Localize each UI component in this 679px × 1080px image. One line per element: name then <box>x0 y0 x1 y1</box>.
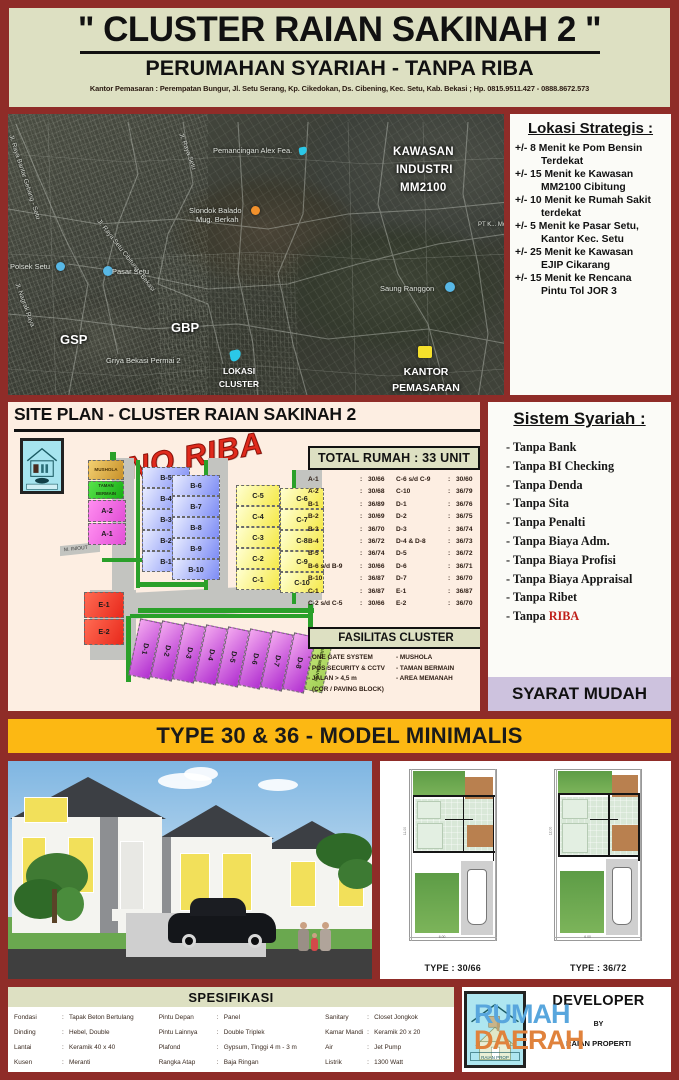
list-item: - TAMAN BERMAIN <box>396 664 482 675</box>
spesifikasi-col-1: Fondasi:Tapak Beton Bertulang Dinding:He… <box>8 1010 159 1070</box>
table-row: Pintu Depan:Panel <box>159 1010 325 1025</box>
lokasi-item-5-line2: Pintu Tol JOR 3 <box>515 285 666 298</box>
site-plan-lot-b8[interactable]: B-8 <box>172 517 220 538</box>
table-row: D-5:36/72 <box>396 548 482 560</box>
spec-key: Kusen <box>14 1055 62 1070</box>
raian-properti-badge-icon <box>20 438 64 494</box>
location-map[interactable]: KAWASAN INDUSTRI MM2100 GSP GBP LOKASI C… <box>6 112 506 397</box>
list-item: - Tanpa Penalti <box>488 513 671 532</box>
spesifikasi-col-2: Pintu Depan:Panel Pintu Lainnya:Double T… <box>159 1010 325 1070</box>
table-row: D-2:36/75 <box>396 511 482 523</box>
unit-code: D-7 <box>396 573 448 585</box>
total-rumah-box: TOTAL RUMAH : 33 UNIT <box>308 446 480 470</box>
map-label-gbp: GBP <box>171 320 199 335</box>
map-poi-slondok: Slondok Balado <box>189 206 242 215</box>
list-item: - Tanpa Denda <box>488 476 671 495</box>
developer-by-label: BY <box>526 1021 671 1028</box>
map-poi-saung-ranggon: Saung Ranggon <box>380 284 434 293</box>
sistem-syariah-title: Sistem Syariah : <box>488 402 671 438</box>
floor-plan-30: 6.00 11.00 TYPE : 30/66 <box>380 761 526 979</box>
spesifikasi-title-bar: SPESIFIKASI <box>8 987 454 1007</box>
unit-code: B-4 <box>308 536 360 548</box>
page-title: " CLUSTER RAIAN SAKINAH 2 " <box>78 10 601 50</box>
unit-code: B-5 <box>308 548 360 560</box>
unit-code: D-3 <box>396 524 448 536</box>
spec-key: Plafond <box>159 1040 217 1055</box>
site-plan-lot-e2[interactable]: E-2 <box>84 619 124 645</box>
render-car <box>168 913 276 943</box>
site-plan-lot-b10[interactable]: B-10 <box>172 559 220 580</box>
site-plan-lot-mushola[interactable]: MUSHOLA <box>88 460 124 480</box>
table-row: A-1:30/66 <box>308 474 396 486</box>
list-item: - Tanpa Ribet <box>488 588 671 607</box>
lokasi-item-3-line1: +/- 5 Menit ke Pasar Setu, <box>515 220 666 233</box>
spec-value: Closet Jongkok <box>374 1010 418 1025</box>
map-pin-saung-ranggon[interactable] <box>445 282 455 292</box>
fasilitas-col-left: - ONE GATE SYSTEM - POS SECURITY & CCTV … <box>308 653 396 695</box>
site-plan-lot-a2[interactable]: A-2 <box>88 500 126 522</box>
unit-code: D-6 <box>396 561 448 573</box>
list-item-tanpa-riba: - Tanpa RIBA <box>488 607 671 626</box>
unit-code: B-1 <box>308 499 360 511</box>
lokasi-item-1-line1: +/- 15 Menit ke Kawasan <box>515 168 666 181</box>
list-item: - POS SECURITY & CCTV <box>308 664 396 675</box>
map-label-gsp: GSP <box>60 332 87 347</box>
spesifikasi-panel: SPESIFIKASI Fondasi:Tapak Beton Bertulan… <box>6 985 456 1074</box>
fasilitas-lists: - ONE GATE SYSTEM - POS SECURITY & CCTV … <box>308 653 482 695</box>
unit-code: B-2 <box>308 511 360 523</box>
site-plan-lot-c1[interactable]: C-1 <box>236 569 280 590</box>
table-row: B-3:36/70 <box>308 524 396 536</box>
table-row: Lantai:Keramik 40 x 40 <box>14 1040 159 1055</box>
site-plan-lot-c4[interactable]: C-4 <box>236 506 280 527</box>
map-label-industri: INDUSTRI <box>396 164 453 176</box>
map-label-lokasi: LOKASI <box>208 366 270 376</box>
unit-type: 36/70 <box>456 573 473 585</box>
unit-code: A-1 <box>308 474 360 486</box>
map-label-kawasan: KAWASAN <box>393 146 454 158</box>
spec-key: Dinding <box>14 1025 62 1040</box>
table-row: Kamar Mandi:Keramik 20 x 20 <box>325 1025 454 1040</box>
spec-value: Double Triplek <box>224 1025 265 1040</box>
lokasi-item-1-line2: MM2100 Cibitung <box>515 181 666 194</box>
list-item: - Tanpa BI Checking <box>488 457 671 476</box>
spesifikasi-title: SPESIFIKASI <box>188 990 273 1005</box>
map-satellite-image: KAWASAN INDUSTRI MM2100 GSP GBP LOKASI C… <box>8 114 504 395</box>
lokasi-item: +/- 8 Menit ke Pom Bensin Terdekat <box>515 142 666 168</box>
title-underline <box>80 51 600 54</box>
spec-value: Tapak Beton Bertulang <box>69 1010 134 1025</box>
table-row: Air:Jet Pump <box>325 1040 454 1055</box>
spesifikasi-col-3: Sanitary:Closet Jongkok Kamar Mandi:Kera… <box>325 1010 454 1070</box>
spec-key: Listrik <box>325 1055 367 1070</box>
table-row: B-10:36/87 <box>308 573 396 585</box>
table-row: B-6 s/d B-9:30/66 <box>308 561 396 573</box>
unit-type: 36/74 <box>456 524 473 536</box>
site-plan-title: SITE PLAN - CLUSTER RAIAN SAKINAH 2 <box>8 402 480 425</box>
list-item: - Tanpa Bank <box>488 438 671 457</box>
unit-type: 36/72 <box>456 548 473 560</box>
spec-value: Gypsum, Tinggi 4 m - 3 m <box>224 1040 297 1055</box>
site-plan-lot-b7[interactable]: B-7 <box>172 496 220 517</box>
unit-code: A-2 <box>308 486 360 498</box>
unit-type: 36/87 <box>368 586 385 598</box>
developer-title: DEVELOPER <box>526 987 671 1009</box>
lokasi-item-2-line1: +/- 10 Menit ke Rumah Sakit <box>515 194 666 207</box>
brochure-page: " CLUSTER RAIAN SAKINAH 2 " PERUMAHAN SY… <box>0 0 679 1080</box>
map-pin-kantor-pemasaran[interactable] <box>418 346 432 358</box>
site-plan-lot-b9[interactable]: B-9 <box>172 538 220 559</box>
table-row: Listrik:1300 Watt <box>325 1055 454 1070</box>
unit-type: 30/60 <box>456 474 473 486</box>
syarat-mudah-label: SYARAT MUDAH <box>512 684 647 704</box>
floor-plan-30-drawing: 6.00 11.00 <box>409 769 497 941</box>
table-row: Plafond:Gypsum, Tinggi 4 m - 3 m <box>159 1040 325 1055</box>
table-row: D-1:36/76 <box>396 499 482 511</box>
table-row: E-1:36/87 <box>396 586 482 598</box>
table-row: D-7:36/70 <box>396 573 482 585</box>
table-row: Rangka Atap:Baja Ringan <box>159 1055 325 1070</box>
table-row: Dinding:Hebel, Double <box>14 1025 159 1040</box>
unit-type: 30/66 <box>368 561 385 573</box>
map-poi-pemancingan: Pemancingan Alex Fea. <box>213 146 292 155</box>
unit-type: 36/74 <box>368 548 385 560</box>
unit-type: 36/75 <box>456 511 473 523</box>
tanpa-prefix: - Tanpa <box>506 609 549 623</box>
table-row: Sanitary:Closet Jongkok <box>325 1010 454 1025</box>
sistem-syariah-panel: Sistem Syariah : - Tanpa Bank - Tanpa BI… <box>486 400 673 713</box>
unit-code: C-1 <box>308 586 360 598</box>
render-person-adult-2 <box>320 922 331 951</box>
map-poi-polsek: Polsek Setu <box>10 262 50 271</box>
floor-plan-30-caption: TYPE : 30/66 <box>380 963 526 973</box>
fasilitas-cluster-box: FASILITAS CLUSTER <box>308 627 482 649</box>
lokasi-item: +/- 25 Menit ke Kawasan EJIP Cikarang <box>515 246 666 272</box>
table-row: E-2:36/70 <box>396 598 482 610</box>
lokasi-strategis-panel: Lokasi Strategis : +/- 8 Menit ke Pom Be… <box>508 112 673 397</box>
table-row: C-6 s/d C-9:30/60 <box>396 474 482 486</box>
site-plan-lot-taman[interactable]: TAMAN BERMAIN <box>88 481 124 499</box>
site-plan-lot-a1[interactable]: A-1 <box>88 523 126 545</box>
list-item: (COR / PAVING BLOCK) <box>308 685 396 696</box>
table-row: B-5:36/74 <box>308 548 396 560</box>
lokasi-item: +/- 10 Menit ke Rumah Sakit terdekat <box>515 194 666 220</box>
spec-key: Air <box>325 1040 367 1055</box>
list-item: - Tanpa Biaya Appraisal <box>488 570 671 589</box>
svg-text:RAIAN PROP: RAIAN PROP <box>481 1055 509 1060</box>
list-item: - AREA MEMANAH <box>396 674 482 685</box>
unit-code: E-2 <box>396 598 448 610</box>
spec-value: Hebel, Double <box>69 1025 110 1040</box>
spec-value: Jet Pump <box>374 1040 401 1055</box>
site-plan-lot-b6[interactable]: B-6 <box>172 475 220 496</box>
lokasi-item-0-line1: +/- 8 Menit ke Pom Bensin <box>515 142 666 155</box>
floor-plans-panel: 6.00 11.00 TYPE : 30/66 <box>378 759 673 981</box>
floor-plan-36-drawing: 6.00 12.00 <box>554 769 642 941</box>
header-subtitle: PERUMAHAN SYARIAH - TANPA RIBA <box>145 56 533 80</box>
list-item: - Tanpa Biaya Adm. <box>488 532 671 551</box>
table-row: C-1:36/87 <box>308 586 396 598</box>
render-person-child <box>311 933 318 951</box>
table-row: B-4:36/72 <box>308 536 396 548</box>
table-row: D-4 & D-8:36/73 <box>396 536 482 548</box>
render-person-adult-1 <box>298 922 309 951</box>
unit-type: 36/79 <box>456 486 473 498</box>
spec-value: Keramik 20 x 20 <box>374 1025 420 1040</box>
list-item: - JALAN > 4,5 m <box>308 674 396 685</box>
riba-accent: RIBA <box>549 609 579 623</box>
spec-key: Lantai <box>14 1040 62 1055</box>
map-label-cluster: CLUSTER <box>208 379 270 389</box>
type-model-label: TYPE 30 & 36 - MODEL MINIMALIS <box>156 723 522 749</box>
map-pin-slondok[interactable] <box>251 206 260 215</box>
lokasi-item-3-line2: Kantor Kec. Setu <box>515 233 666 246</box>
map-label-mm2100: MM2100 <box>400 182 447 194</box>
list-item: - Tanpa Biaya Profisi <box>488 551 671 570</box>
unit-list-col-left: A-1:30/66 A-2:30/68 B-1:36/89 B-2:30/69 … <box>308 474 396 622</box>
marketing-office-address: Kantor Pemasaran : Perempatan Bungur, Jl… <box>90 84 589 93</box>
spec-key: Sanitary <box>325 1010 367 1025</box>
spec-key: Kamar Mandi <box>325 1025 367 1040</box>
unit-code: D-1 <box>396 499 448 511</box>
unit-code: B-6 s/d B-9 <box>308 561 360 573</box>
lokasi-item-5-line1: +/- 15 Menit ke Rencana <box>515 272 666 285</box>
site-plan-lot-c2[interactable]: C-2 <box>236 548 280 569</box>
lokasi-item: +/- 5 Menit ke Pasar Setu, Kantor Kec. S… <box>515 220 666 246</box>
table-row: Fondasi:Tapak Beton Bertulang <box>14 1010 159 1025</box>
map-label-kantor: KANTOR <box>386 366 466 378</box>
lokasi-item: +/- 15 Menit ke Rencana Pintu Tol JOR 3 <box>515 272 666 298</box>
unit-type: 36/71 <box>456 561 473 573</box>
table-row: B-1:36/89 <box>308 499 396 511</box>
map-poi-griya: Griya Bekasi Permai 2 <box>106 356 181 365</box>
syarat-mudah-banner: SYARAT MUDAH <box>488 677 671 711</box>
developer-logo-icon: RAIAN PROP <box>464 991 526 1068</box>
developer-panel: RAIAN PROP DEVELOPER BY RAIAN PROPERTI R… <box>460 985 673 1074</box>
unit-type: 30/69 <box>368 511 385 523</box>
unit-code: B-10 <box>308 573 360 585</box>
site-plan-lot-e1[interactable]: E-1 <box>84 592 124 618</box>
lokasi-item-0-line2: Terdekat <box>515 155 666 168</box>
unit-code: E-1 <box>396 586 448 598</box>
unit-code: D-2 <box>396 511 448 523</box>
unit-type: 36/89 <box>368 499 385 511</box>
table-row: D-6:36/71 <box>396 561 482 573</box>
floor-plan-36: 6.00 12.00 TYPE : 36/72 <box>526 761 672 979</box>
spec-value: Panel <box>224 1010 240 1025</box>
table-row: C-2 s/d C-5:30/66 <box>308 598 396 610</box>
unit-code: C-10 <box>396 486 448 498</box>
unit-type: 36/73 <box>456 536 473 548</box>
fasilitas-cluster-title: FASILITAS CLUSTER <box>338 632 453 644</box>
table-row: A-2:30/68 <box>308 486 396 498</box>
map-poi-mug-berkah: Mug. Berkah <box>196 215 239 224</box>
unit-type: 36/87 <box>368 573 385 585</box>
unit-type: 36/70 <box>456 598 473 610</box>
lokasi-item-2-line2: terdekat <box>515 207 666 220</box>
table-row: Kusen:Meranti <box>14 1055 159 1070</box>
spec-value: Baja Ringan <box>224 1055 259 1070</box>
site-plan-panel: SITE PLAN - CLUSTER RAIAN SAKINAH 2 NO R… <box>6 400 482 713</box>
map-pin-polsek[interactable] <box>56 262 65 271</box>
unit-code: C-6 s/d C-9 <box>396 474 448 486</box>
table-row: C-10:36/79 <box>396 486 482 498</box>
unit-type: 30/66 <box>368 598 385 610</box>
unit-code: C-2 s/d C-5 <box>308 598 360 610</box>
spec-key: Pintu Lainnya <box>159 1025 217 1040</box>
list-item: - Tanpa Sita <box>488 494 671 513</box>
table-row: Pintu Lainnya:Double Triplek <box>159 1025 325 1040</box>
unit-type: 30/68 <box>368 486 385 498</box>
map-poi-pt-motor: PT K... Motor In... <box>478 222 506 228</box>
unit-code: D-4 & D-8 <box>396 536 448 548</box>
site-plan-lot-c5[interactable]: C-5 <box>236 485 280 506</box>
header-banner: " CLUSTER RAIAN SAKINAH 2 " PERUMAHAN SY… <box>6 5 673 110</box>
list-item: - MUSHOLA <box>396 653 482 664</box>
spec-key: Pintu Depan <box>159 1010 217 1025</box>
house-render-image <box>6 759 374 981</box>
site-plan-lot-c3[interactable]: C-3 <box>236 527 280 548</box>
spec-key: Fondasi <box>14 1010 62 1025</box>
unit-type: 36/70 <box>368 524 385 536</box>
spec-value: 1300 Watt <box>374 1055 403 1070</box>
lokasi-item: +/- 15 Menit ke Kawasan MM2100 Cibitung <box>515 168 666 194</box>
unit-code: B-3 <box>308 524 360 536</box>
lokasi-item-4-line1: +/- 25 Menit ke Kawasan <box>515 246 666 259</box>
spec-key: Rangka Atap <box>159 1055 217 1070</box>
unit-type: 36/76 <box>456 499 473 511</box>
total-rumah-label: TOTAL RUMAH : 33 UNIT <box>318 451 470 465</box>
lokasi-strategis-title: Lokasi Strategis : <box>515 120 666 137</box>
table-row: D-3:36/74 <box>396 524 482 536</box>
unit-type: 36/72 <box>368 536 385 548</box>
type-model-banner: TYPE 30 & 36 - MODEL MINIMALIS <box>6 717 673 755</box>
table-row: B-2:30/69 <box>308 511 396 523</box>
developer-name: RAIAN PROPERTI <box>526 1039 671 1048</box>
unit-type: 36/87 <box>456 586 473 598</box>
list-item: - ONE GATE SYSTEM <box>308 653 396 664</box>
unit-type: 30/66 <box>368 474 385 486</box>
map-label-pemasaran: PEMASARAN <box>378 382 474 394</box>
unit-code: D-5 <box>396 548 448 560</box>
lokasi-item-4-line2: EJIP Cikarang <box>515 259 666 272</box>
floor-plan-36-caption: TYPE : 36/72 <box>526 963 672 973</box>
spec-value: Keramik 40 x 40 <box>69 1040 115 1055</box>
unit-list-table: A-1:30/66 A-2:30/68 B-1:36/89 B-2:30/69 … <box>308 474 482 622</box>
unit-list-col-right: C-6 s/d C-9:30/60 C-10:36/79 D-1:36/76 D… <box>396 474 482 622</box>
fasilitas-col-right: - MUSHOLA - TAMAN BERMAIN - AREA MEMANAH <box>396 653 482 695</box>
spec-value: Meranti <box>69 1055 90 1070</box>
